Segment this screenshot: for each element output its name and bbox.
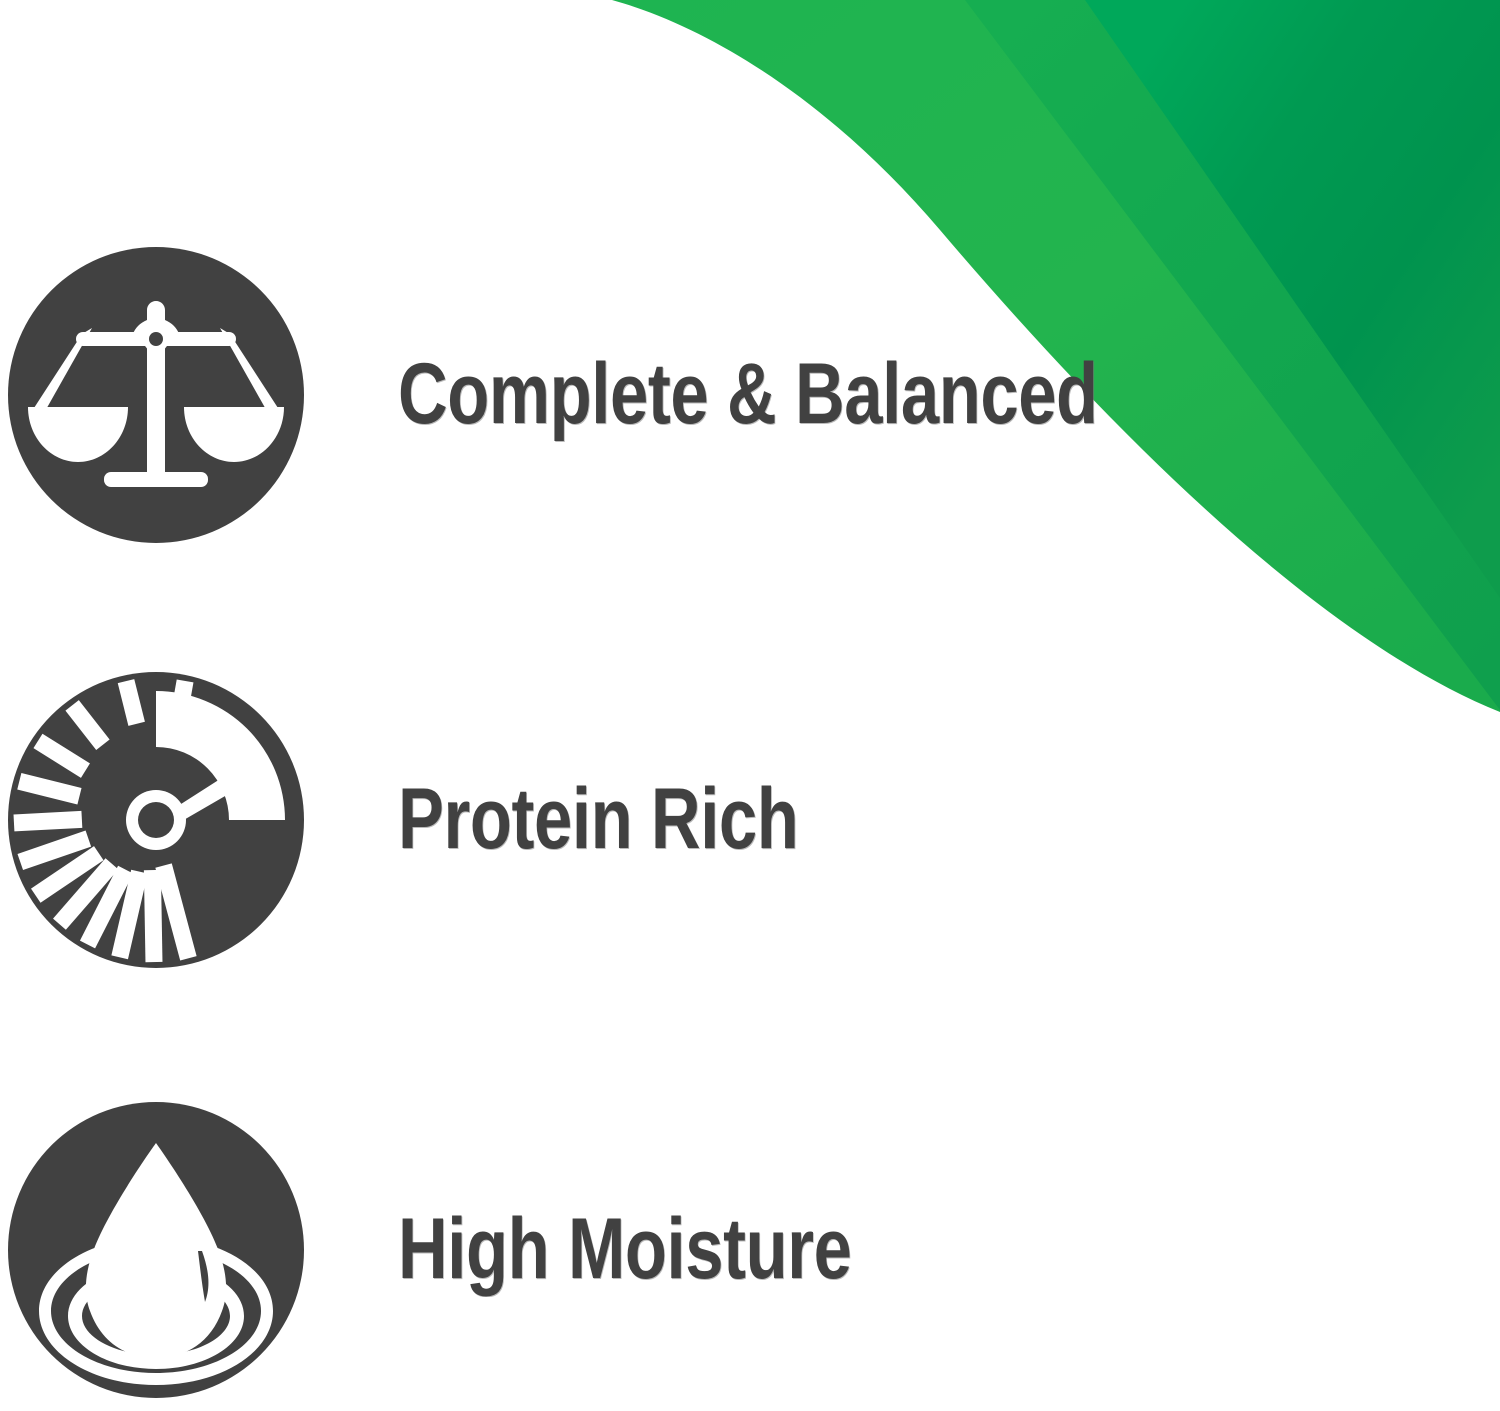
feature-badges-panel: Complete & Balanced	[0, 0, 1500, 1411]
feature-row: Protein Rich	[0, 665, 1200, 975]
feature-row: Complete & Balanced	[0, 240, 1200, 550]
feature-label: High Moisture	[398, 1206, 1040, 1294]
water-drop-icon	[6, 1099, 306, 1401]
feature-row: High Moisture	[0, 1095, 1200, 1405]
gauge-speedometer-icon	[6, 669, 306, 971]
feature-label: Complete & Balanced	[398, 351, 1098, 439]
balance-scale-icon	[6, 244, 306, 546]
feature-label: Protein Rich	[398, 776, 1040, 864]
